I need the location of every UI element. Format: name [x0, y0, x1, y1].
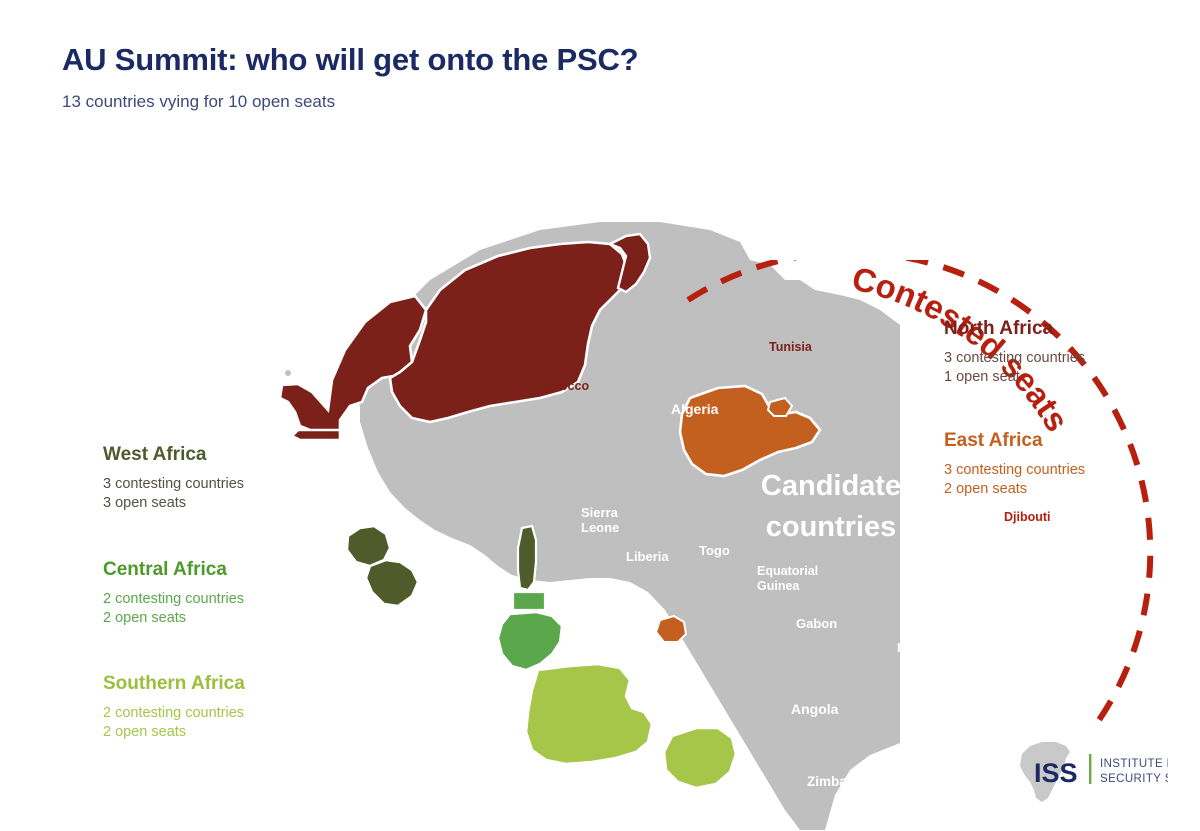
legend-seats-north-africa: 1 open seat [944, 368, 1085, 387]
island-dot-shape [855, 732, 862, 739]
country-shape-angola[interactable] [526, 664, 652, 764]
island-dot-shape-3 [285, 370, 291, 376]
africa-map-container: Contested seats Candidate countries Moro… [240, 130, 900, 830]
country-shape-liberia[interactable] [366, 560, 418, 606]
country-shape-rwanda[interactable] [656, 616, 686, 642]
logo-divider [1089, 754, 1091, 784]
country-shape-togo[interactable] [518, 526, 536, 590]
legend-title-west-africa: West Africa [103, 444, 244, 466]
legend-block-southern-africa: Southern Africa 2 contesting countries 2… [103, 673, 245, 741]
legend-block-north-africa: North Africa 3 contesting countries 1 op… [944, 318, 1085, 386]
legend-contesting-north-africa: 3 contesting countries [944, 349, 1085, 368]
logo-mark-text: ISS [1034, 758, 1078, 788]
logo-line1-text: INSTITUTE FOR [1100, 758, 1168, 770]
legend-block-west-africa: West Africa 3 contesting countries 3 ope… [103, 444, 244, 512]
legend-seats-central-africa: 2 open seats [103, 609, 244, 628]
country-shape-djibouti[interactable] [768, 398, 792, 416]
legend-seats-west-africa: 3 open seats [103, 494, 244, 513]
country-label-rwanda: Rwanda [897, 641, 945, 655]
africa-map-svg [240, 130, 900, 830]
page-title: AU Summit: who will get onto the PSC? [62, 42, 638, 78]
legend-title-southern-africa: Southern Africa [103, 673, 245, 695]
legend-seats-east-africa: 2 open seats [944, 480, 1085, 499]
legend-title-central-africa: Central Africa [103, 559, 244, 581]
legend-contesting-central-africa: 2 contesting countries [103, 590, 244, 609]
island-dot-shape-2 [778, 458, 783, 463]
country-label-djibouti: Djibouti [1004, 510, 1051, 524]
legend-contesting-west-africa: 3 contesting countries [103, 475, 244, 494]
logo-line2-text: SECURITY STUDIES [1100, 773, 1168, 785]
legend-block-east-africa: East Africa 3 contesting countries 2 ope… [944, 430, 1085, 498]
legend-contesting-southern-africa: 2 contesting countries [103, 704, 245, 723]
legend-title-north-africa: North Africa [944, 318, 1085, 340]
country-shape-zimbabwe[interactable] [664, 728, 736, 788]
page-subtitle: 13 countries vying for 10 open seats [62, 92, 638, 112]
country-label-ethiopia: Ethiopia [945, 550, 998, 565]
legend-title-east-africa: East Africa [944, 430, 1085, 452]
country-shape-equatorial-guinea[interactable] [513, 592, 545, 610]
header: AU Summit: who will get onto the PSC? 13… [62, 42, 638, 112]
iss-logo: ISS INSTITUTE FOR SECURITY STUDIES [1008, 736, 1168, 810]
legend-contesting-east-africa: 3 contesting countries [944, 461, 1085, 480]
legend-seats-southern-africa: 2 open seats [103, 723, 245, 742]
country-shape-gabon[interactable] [498, 612, 562, 670]
legend-block-central-africa: Central Africa 2 contesting countries 2 … [103, 559, 244, 627]
